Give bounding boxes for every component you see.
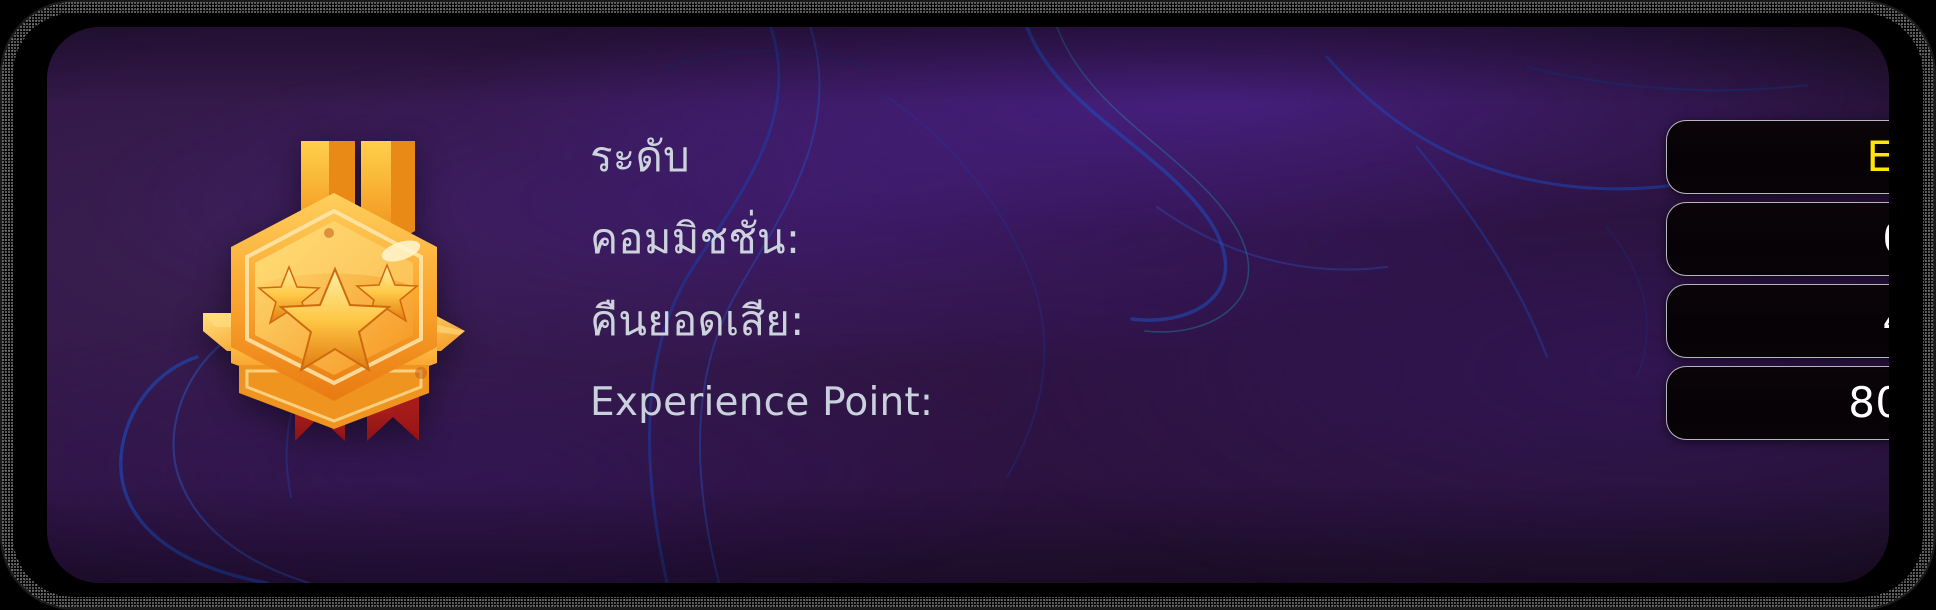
stat-row-level: ระดับ Expert <box>590 120 1889 194</box>
value-box-commission[interactable]: 0.3% <box>1666 202 1889 276</box>
value-commission: 0.3% <box>1882 218 1889 260</box>
label-commission: คอมมิชชั่น: <box>590 202 800 276</box>
label-level: ระดับ <box>590 120 690 194</box>
stat-row-experience-point: Experience Point: 800,000 <box>590 366 1889 440</box>
outer-frame: ระดับ Expert คอมมิชชั่น: 0.3% คืนยอดเสีย… <box>0 0 1936 610</box>
value-level: Expert <box>1866 136 1889 178</box>
stats-list: ระดับ Expert คอมมิชชั่น: 0.3% คืนยอดเสีย… <box>47 27 1889 583</box>
stat-row-commission: คอมมิชชั่น: 0.3% <box>590 202 1889 276</box>
value-experience-point: 800,000 <box>1848 382 1889 424</box>
value-box-experience-point[interactable]: 800,000 <box>1666 366 1889 440</box>
label-cashback: คืนยอดเสีย: <box>590 284 804 358</box>
rank-card: ระดับ Expert คอมมิชชั่น: 0.3% คืนยอดเสีย… <box>47 27 1889 583</box>
value-cashback: 4.5% <box>1882 300 1889 342</box>
value-box-cashback[interactable]: 4.5% <box>1666 284 1889 358</box>
stat-row-cashback: คืนยอดเสีย: 4.5% <box>590 284 1889 358</box>
label-experience-point: Experience Point: <box>590 366 933 440</box>
value-box-level[interactable]: Expert <box>1666 120 1889 194</box>
